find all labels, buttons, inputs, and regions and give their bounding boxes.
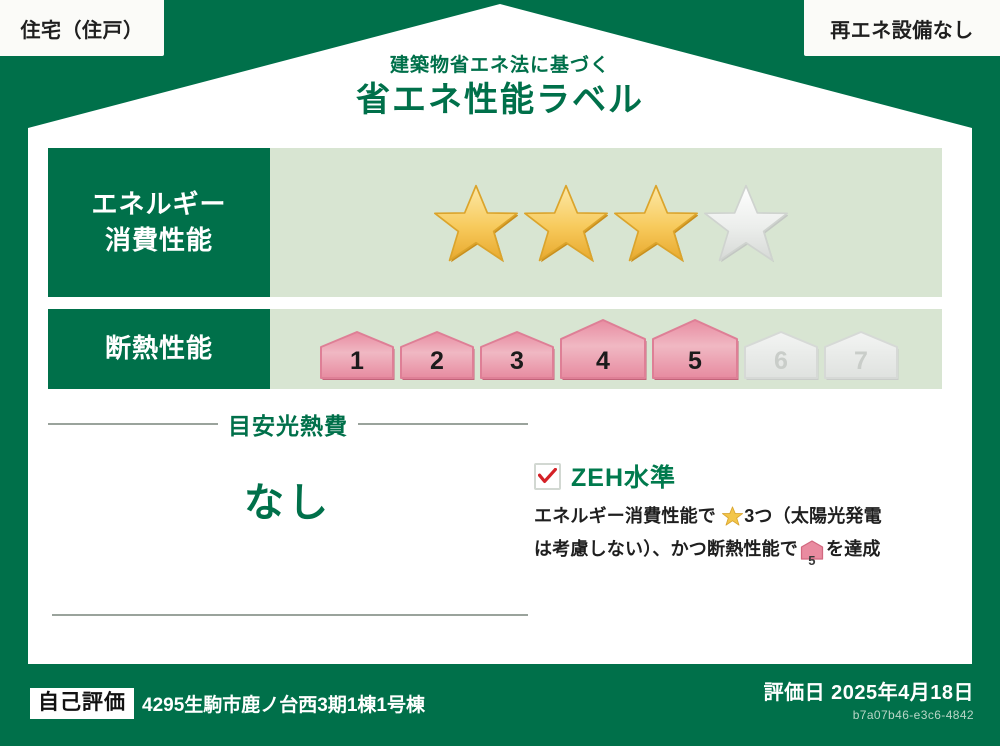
utility-cost-value: なし [48,470,528,528]
evaluation-id: b7a07b46-e3c6-4842 [764,708,974,722]
energy-performance-label-box: エネルギー 消費性能 [48,148,270,297]
insulation-grade-4: 4 [559,318,647,380]
insulation-label-text: 断熱性能 [105,331,213,366]
footer-left-group: 自己評価 4295生駒市鹿ノ台西3期1棟1号棟 [30,688,425,719]
insulation-grade-1: 1 [319,330,395,380]
insulation-grade-scale: 1234567 [319,318,899,380]
footer-right-group: 評価日 2025年4月18日 b7a07b46-e3c6-4842 [764,680,974,722]
star-filled-icon [434,183,518,263]
tag-building-type-label: 住宅（住戸） [21,14,144,43]
star-filled-icon [614,183,698,263]
zeh-checkbox[interactable] [534,463,561,490]
row-energy-performance: エネルギー 消費性能 [48,148,942,297]
tag-renewable-energy: 再エネ設備なし [804,0,1000,56]
inline-grade-number: 5 [800,554,824,567]
evaluation-date: 評価日 2025年4月18日 [764,680,974,706]
star-rating [434,183,788,263]
zeh-desc-part1: エネルギー消費性能で [534,506,716,526]
label-footer: 自己評価 4295生駒市鹿ノ台西3期1棟1号棟 評価日 2025年4月18日 b… [0,664,1000,746]
energy-performance-panel [270,148,942,297]
grade-house-icon [559,318,647,380]
zeh-header: ZEH水準 [534,458,954,494]
insulation-grade-2: 2 [399,330,475,380]
grade-house-icon [479,330,555,380]
tag-renewable-energy-label: 再エネ設備なし [830,14,974,43]
label-main-title: 省エネ性能ラベル [0,81,1000,120]
zeh-desc-part3: は考慮しない）、かつ断熱性能で [534,539,798,559]
zeh-description: エネルギー消費性能で 3つ（太陽光発電 は考慮しない）、かつ断熱性能で 5 を達… [534,502,954,569]
inline-star-icon [717,510,743,530]
energy-label-line1: エネルギー [91,187,226,222]
cost-rule-left [48,423,218,425]
label-title-block: 建築物省エネ法に基づく 省エネ性能ラベル [0,56,1000,120]
tag-building-type: 住宅（住戸） [0,0,164,56]
grade-house-icon [651,318,739,380]
star-empty-icon [704,183,788,263]
energy-performance-label: 住宅（住戸） 再エネ設備なし 建築物省エネ法に基づく 省エネ性能ラベル エネルギ… [0,0,1000,746]
grade-house-icon [823,330,899,380]
evaluation-type-badge: 自己評価 [30,688,134,719]
check-icon [538,468,557,484]
grade-house-icon [319,330,395,380]
insulation-grade-3: 3 [479,330,555,380]
insulation-performance-label-box: 断熱性能 [48,309,270,389]
energy-label-line2: 消費性能 [91,223,226,258]
insulation-grade-5: 5 [651,318,739,380]
building-name: 4295生駒市鹿ノ台西3期1棟1号棟 [142,690,425,717]
insulation-grade-7: 7 [823,330,899,380]
zeh-block: ZEH水準 エネルギー消費性能で 3つ（太陽光発電 は考慮しない）、かつ断熱性能… [534,458,954,569]
insulation-grade-6: 6 [743,330,819,380]
grade-house-icon [399,330,475,380]
utility-cost-title: 目安光熱費 [228,407,348,441]
insulation-performance-panel: 1234567 [270,309,942,389]
utility-cost-header: 目安光熱費 [48,407,528,441]
zeh-desc-part4: を達成 [826,539,881,559]
row-insulation-performance: 断熱性能 1234567 [48,309,942,389]
cost-rule-bottom [52,614,528,616]
star-filled-icon [524,183,608,263]
cost-rule-right [358,423,528,425]
grade-house-icon [743,330,819,380]
inline-grade-badge: 5 [800,540,824,569]
zeh-desc-part2: 3つ（太陽光発電 [744,506,882,526]
label-subtitle: 建築物省エネ法に基づく [0,56,1000,77]
zeh-title: ZEH水準 [571,458,676,494]
